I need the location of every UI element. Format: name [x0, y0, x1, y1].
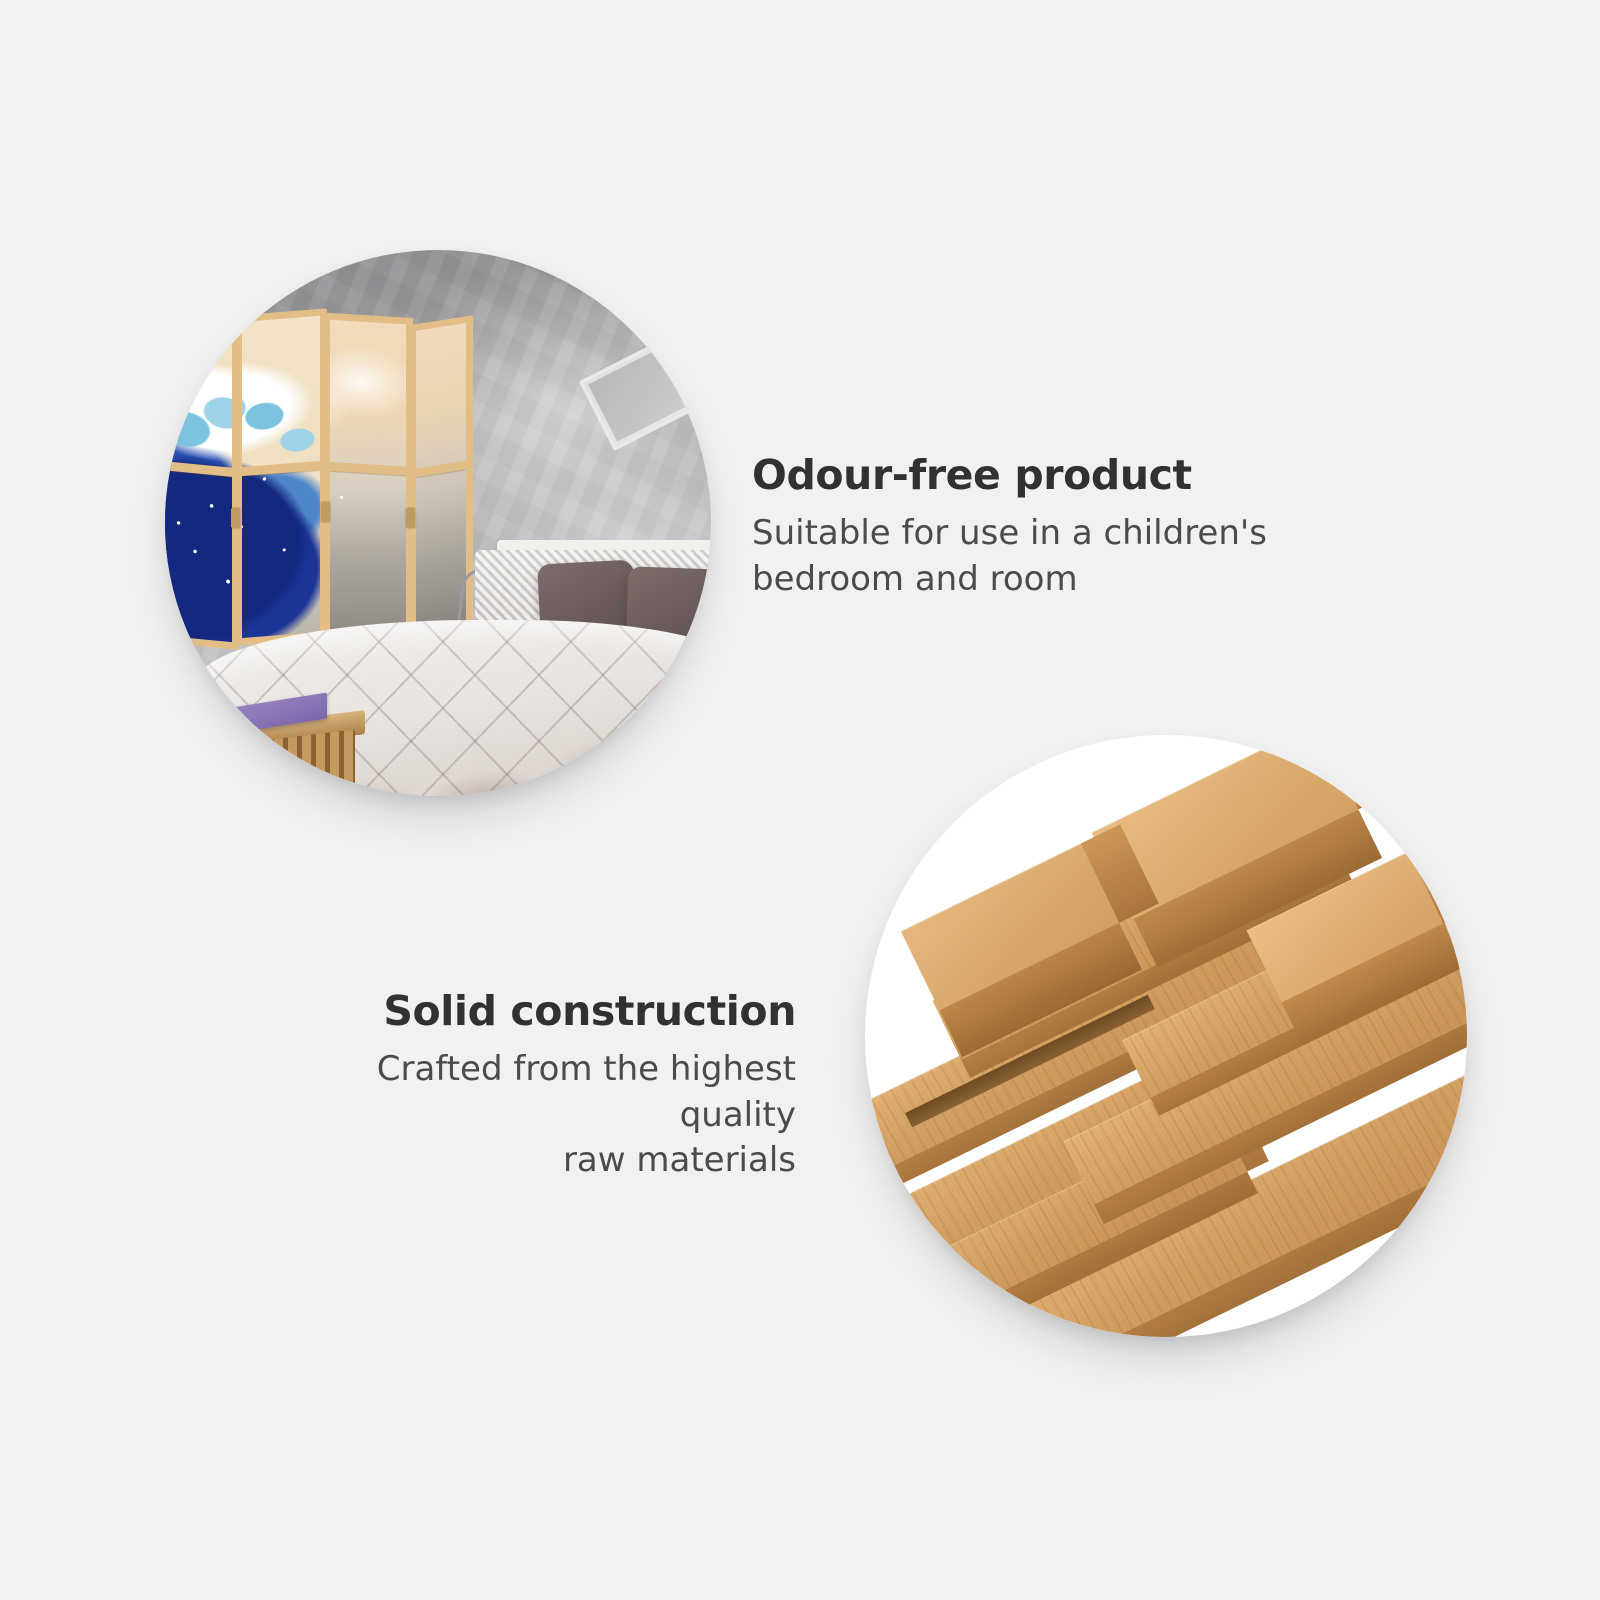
screen-panel-2 — [235, 308, 327, 645]
subtitle-line-1: Crafted from the highest quality — [258, 1047, 796, 1138]
timber-scene — [865, 735, 1467, 1337]
feature-image-stacked-wooden-planks — [865, 735, 1467, 1337]
feature-text-solid-construction: Solid construction Crafted from the high… — [258, 988, 796, 1184]
great-wave-artwork-panel-1 — [165, 304, 239, 650]
great-wave-artwork-panel-3 — [323, 313, 413, 642]
feature-image-bedroom-with-wave-room-divider — [165, 250, 711, 796]
subtitle-line-2: raw materials — [258, 1138, 796, 1184]
folding-screen-room-divider — [165, 312, 473, 642]
feature-subtitle-odour-free: Suitable for use in a children's bedroom… — [752, 511, 1292, 602]
screen-panel-3 — [323, 313, 413, 642]
screen-hinge-3 — [406, 508, 415, 528]
feature-collage: Odour-free product Suitable for use in a… — [0, 0, 1600, 1600]
screen-hinge-2 — [321, 502, 330, 522]
screen-panel-1 — [165, 304, 239, 650]
subtitle-line-1: Suitable for use in a children's — [752, 511, 1292, 557]
feature-title-solid-construction: Solid construction — [258, 988, 796, 1035]
feature-text-odour-free: Odour-free product Suitable for use in a… — [752, 452, 1292, 602]
feature-title-odour-free: Odour-free product — [752, 452, 1292, 499]
subtitle-line-2: bedroom and room — [752, 557, 1292, 603]
bedroom-scene — [165, 250, 711, 796]
feature-subtitle-solid-construction: Crafted from the highest quality raw mat… — [258, 1047, 796, 1184]
great-wave-artwork-panel-2 — [235, 308, 327, 645]
screen-hinge-1 — [231, 508, 240, 528]
